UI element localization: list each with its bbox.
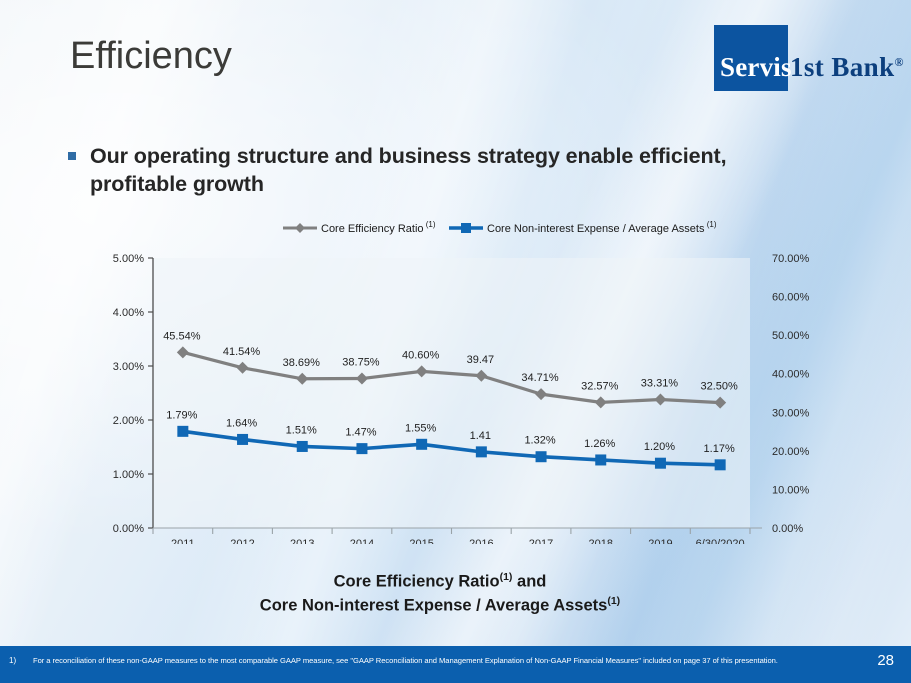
- data-point-label: 1.17%: [704, 443, 735, 455]
- data-point-label: 45.54%: [163, 330, 201, 342]
- legend-square-marker-icon: [461, 223, 471, 233]
- legend-label: Core Non-interest Expense / Average Asse…: [487, 220, 717, 235]
- left-axis-tick-label: 2.00%: [113, 415, 144, 427]
- data-point-marker: [595, 454, 606, 465]
- data-point-marker: [655, 458, 666, 469]
- data-point-marker: [715, 459, 726, 470]
- data-point-marker: [476, 446, 487, 457]
- footnote-number: 1): [9, 656, 16, 665]
- data-point-label: 1.41: [470, 430, 491, 442]
- left-axis-tick-label: 3.00%: [113, 361, 144, 373]
- left-axis-tick-label: 0.00%: [113, 523, 144, 535]
- x-axis-tick-label: 6/30/2020: [696, 538, 745, 544]
- data-point-label: 1.20%: [644, 441, 675, 453]
- logo-wordmark-text: 1st Bank: [790, 52, 895, 82]
- efficiency-line-chart: Core Efficiency Ratio (1)Core Non-intere…: [95, 214, 825, 544]
- legend-diamond-marker-icon: [295, 223, 305, 233]
- legend-item-2: Core Non-interest Expense / Average Asse…: [449, 220, 717, 235]
- x-axis-tick-label: 2012: [230, 538, 254, 544]
- x-axis-tick-label: 2011: [171, 538, 195, 544]
- axis-title-line1-tail: and: [512, 573, 546, 591]
- data-point-label: 39.47: [467, 354, 495, 366]
- data-point-label: 1.55%: [405, 422, 436, 434]
- right-axis-tick-label: 30.00%: [772, 407, 810, 419]
- x-axis-tick-label: 2016: [469, 538, 493, 544]
- axis-title-line1-main: Core Efficiency Ratio: [334, 573, 500, 591]
- bullet-item-label: Our operating structure and business str…: [90, 142, 798, 199]
- data-point-label: 38.75%: [342, 357, 380, 369]
- left-axis-tick-label: 1.00%: [113, 469, 144, 481]
- registered-trademark-icon: ®: [895, 55, 904, 69]
- data-point-marker: [297, 441, 308, 452]
- right-axis-tick-label: 60.00%: [772, 292, 810, 304]
- right-axis-tick-label: 50.00%: [772, 330, 810, 342]
- data-point-marker: [237, 434, 248, 445]
- bullet-item: Our operating structure and business str…: [68, 142, 798, 199]
- right-axis-tick-label: 20.00%: [772, 446, 810, 458]
- data-point-marker: [416, 439, 427, 450]
- axis-title-line-2: Core Non-interest Expense / Average Asse…: [140, 594, 740, 618]
- data-point-marker: [356, 443, 367, 454]
- data-point-label: 1.32%: [524, 435, 555, 447]
- right-axis-tick-label: 40.00%: [772, 369, 810, 381]
- data-point-label: 1.51%: [286, 424, 317, 436]
- logo-servis-text: Servis: [720, 54, 792, 81]
- data-point-label: 1.47%: [345, 427, 376, 439]
- left-axis-tick-label: 4.00%: [113, 307, 144, 319]
- square-bullet-icon: [68, 152, 76, 160]
- data-point-label: 1.64%: [226, 417, 257, 429]
- footnote-text: For a reconciliation of these non-GAAP m…: [33, 656, 778, 665]
- servisfirst-bank-logo: Servis 1st Bank®: [714, 25, 890, 91]
- axis-title-line1-footnote-ref: (1): [500, 571, 513, 583]
- page-number: 28: [877, 652, 894, 669]
- legend-label: Core Efficiency Ratio (1): [321, 220, 436, 235]
- data-point-label: 38.69%: [283, 357, 321, 369]
- axis-title-line2-footnote-ref: (1): [607, 595, 620, 607]
- data-point-label: 33.31%: [641, 378, 679, 390]
- data-point-label: 41.54%: [223, 346, 261, 358]
- chart-axis-title: Core Efficiency Ratio(1) and Core Non-in…: [140, 570, 740, 619]
- legend-item-1: Core Efficiency Ratio (1): [283, 220, 436, 235]
- right-axis-tick-label: 10.00%: [772, 484, 810, 496]
- data-point-label: 32.50%: [700, 381, 738, 393]
- data-point-label: 32.57%: [581, 380, 619, 392]
- plot-area-background: [153, 258, 750, 528]
- data-point-marker: [536, 451, 547, 462]
- axis-title-line2-main: Core Non-interest Expense / Average Asse…: [260, 597, 608, 615]
- slide-footer-bar: 1) For a reconciliation of these non-GAA…: [0, 646, 911, 683]
- chart-svg: Core Efficiency Ratio (1)Core Non-intere…: [95, 214, 825, 544]
- slide-canvas: Efficiency Servis 1st Bank® Our operatin…: [0, 0, 911, 683]
- x-axis-tick-label: 2017: [529, 538, 553, 544]
- page-title: Efficiency: [70, 36, 232, 78]
- left-axis-tick-label: 5.00%: [113, 253, 144, 265]
- right-axis-tick-label: 0.00%: [772, 523, 803, 535]
- x-axis-tick-label: 2019: [648, 538, 672, 544]
- data-point-marker: [177, 426, 188, 437]
- x-axis-tick-label: 2018: [589, 538, 613, 544]
- data-point-label: 1.26%: [584, 438, 615, 450]
- right-axis-tick-label: 70.00%: [772, 253, 810, 265]
- x-axis-tick-label: 2014: [350, 538, 374, 544]
- logo-wordmark: 1st Bank®: [790, 54, 904, 81]
- data-point-label: 34.71%: [521, 372, 559, 384]
- x-axis-tick-label: 2013: [290, 538, 314, 544]
- axis-title-line-1: Core Efficiency Ratio(1) and: [140, 570, 740, 594]
- x-axis-tick-label: 2015: [409, 538, 433, 544]
- data-point-label: 40.60%: [402, 349, 440, 361]
- data-point-label: 1.79%: [166, 409, 197, 421]
